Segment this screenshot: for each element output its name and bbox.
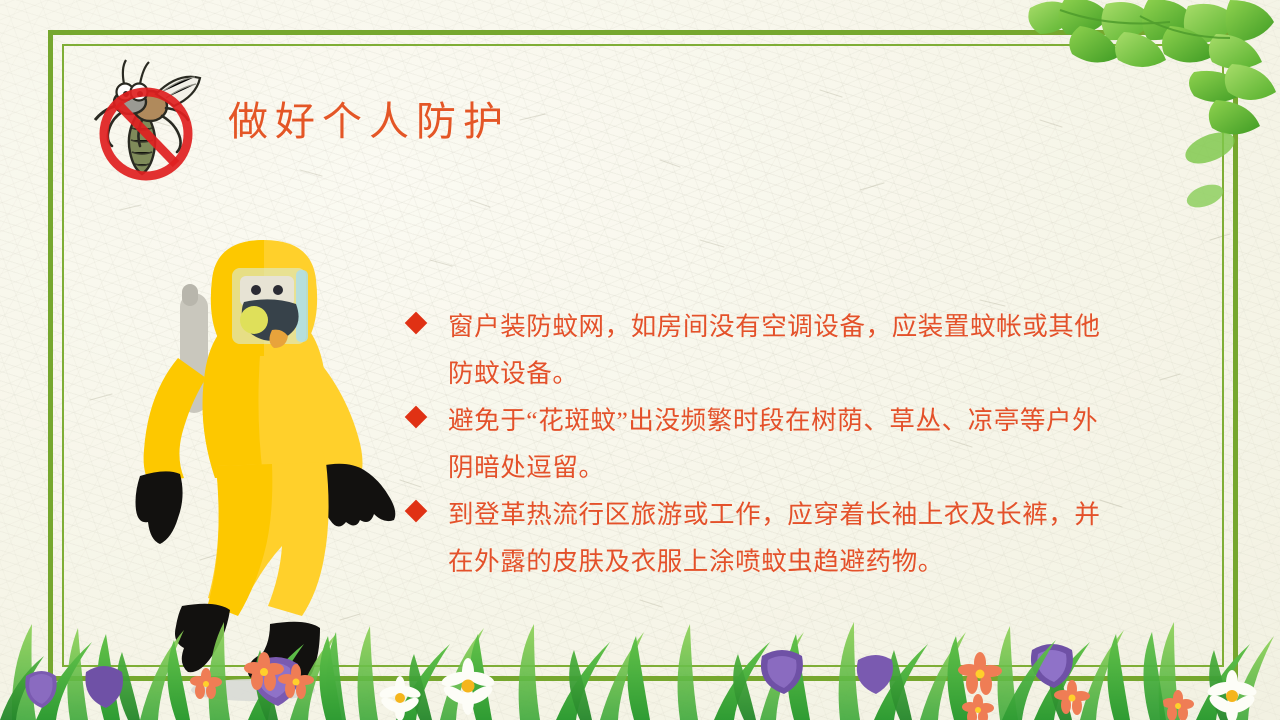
bullet-text: 窗户装防蚊网，如房间没有空调设备，应装置蚊帐或其他防蚊设备。 xyxy=(448,312,1101,388)
list-item: 避免于“花斑蚊”出没频繁时段在树荫、草丛、凉亭等户外阴暗处逗留。 xyxy=(404,397,1104,491)
slide-canvas: 做好个人防护 xyxy=(0,0,1280,720)
diamond-bullet-icon xyxy=(405,500,428,523)
page-title: 做好个人防护 xyxy=(228,89,510,147)
bullet-text: 避免于“花斑蚊”出没频繁时段在树荫、草丛、凉亭等户外阴暗处逗留。 xyxy=(448,406,1098,482)
diamond-bullet-icon xyxy=(405,406,428,429)
green-leaves-corner xyxy=(1020,0,1280,230)
list-item: 到登革热流行区旅游或工作，应穿着长袖上衣及长裤，并在外露的皮肤及衣服上涂喷蚊虫趋… xyxy=(404,491,1104,585)
diamond-bullet-icon xyxy=(405,312,428,335)
list-item: 窗户装防蚊网，如房间没有空调设备，应装置蚊帐或其他防蚊设备。 xyxy=(404,303,1104,397)
bullet-list: 窗户装防蚊网，如房间没有空调设备，应装置蚊帐或其他防蚊设备。 避免于“花斑蚊”出… xyxy=(404,303,1104,585)
title-row: 做好个人防护 xyxy=(92,58,510,178)
no-mosquito-icon xyxy=(92,54,210,182)
bullet-text: 到登革热流行区旅游或工作，应穿着长袖上衣及长裤，并在外露的皮肤及衣服上涂喷蚊虫趋… xyxy=(448,500,1101,576)
grass-flowers-border xyxy=(0,600,1280,720)
